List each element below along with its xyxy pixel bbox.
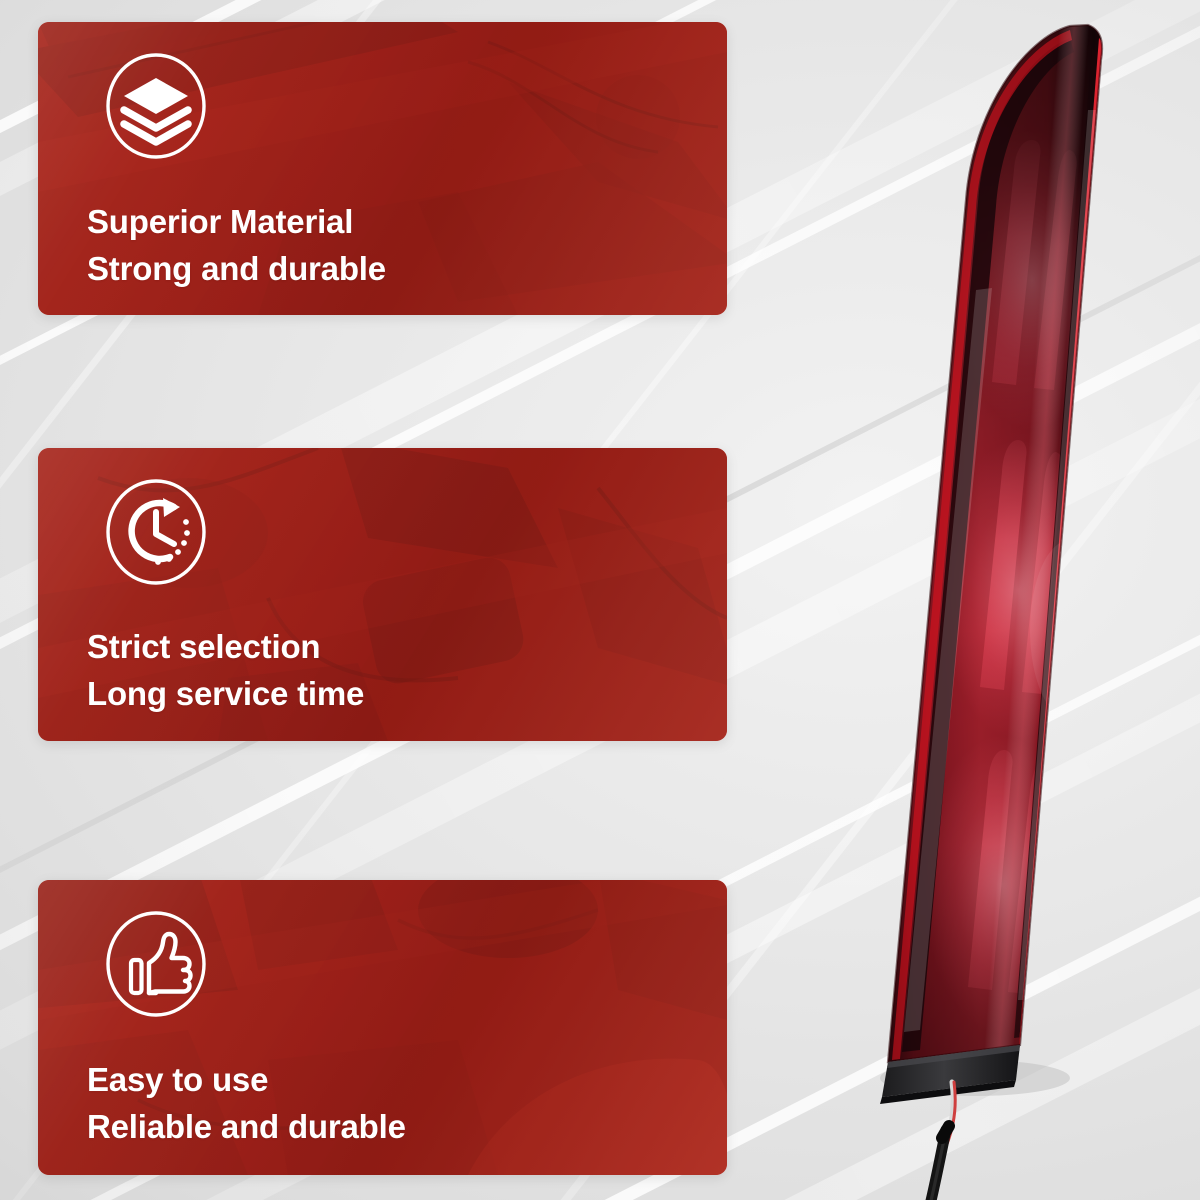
feature-card-text: Strict selection Long service time xyxy=(87,623,364,717)
feature-card-superior-material: Superior Material Strong and durable xyxy=(38,22,727,315)
thumbs-up-icon xyxy=(100,908,212,1020)
clock-arrow-icon xyxy=(100,476,212,588)
feature-card-text: Easy to use Reliable and durable xyxy=(87,1056,406,1150)
feature-line-2: Reliable and durable xyxy=(87,1103,406,1150)
feature-card-text: Superior Material Strong and durable xyxy=(87,198,386,292)
feature-card-easy-to-use: Easy to use Reliable and durable xyxy=(38,880,727,1175)
feature-line-1: Strict selection xyxy=(87,623,364,670)
layers-icon xyxy=(100,50,212,162)
product-image-third-brake-light xyxy=(770,0,1200,1200)
feature-line-1: Superior Material xyxy=(87,198,386,245)
feature-line-2: Long service time xyxy=(87,670,364,717)
feature-card-strict-selection: Strict selection Long service time xyxy=(38,448,727,741)
feature-line-1: Easy to use xyxy=(87,1056,406,1103)
product-feature-poster: Superior Material Strong and durable xyxy=(0,0,1200,1200)
feature-line-2: Strong and durable xyxy=(87,245,386,292)
